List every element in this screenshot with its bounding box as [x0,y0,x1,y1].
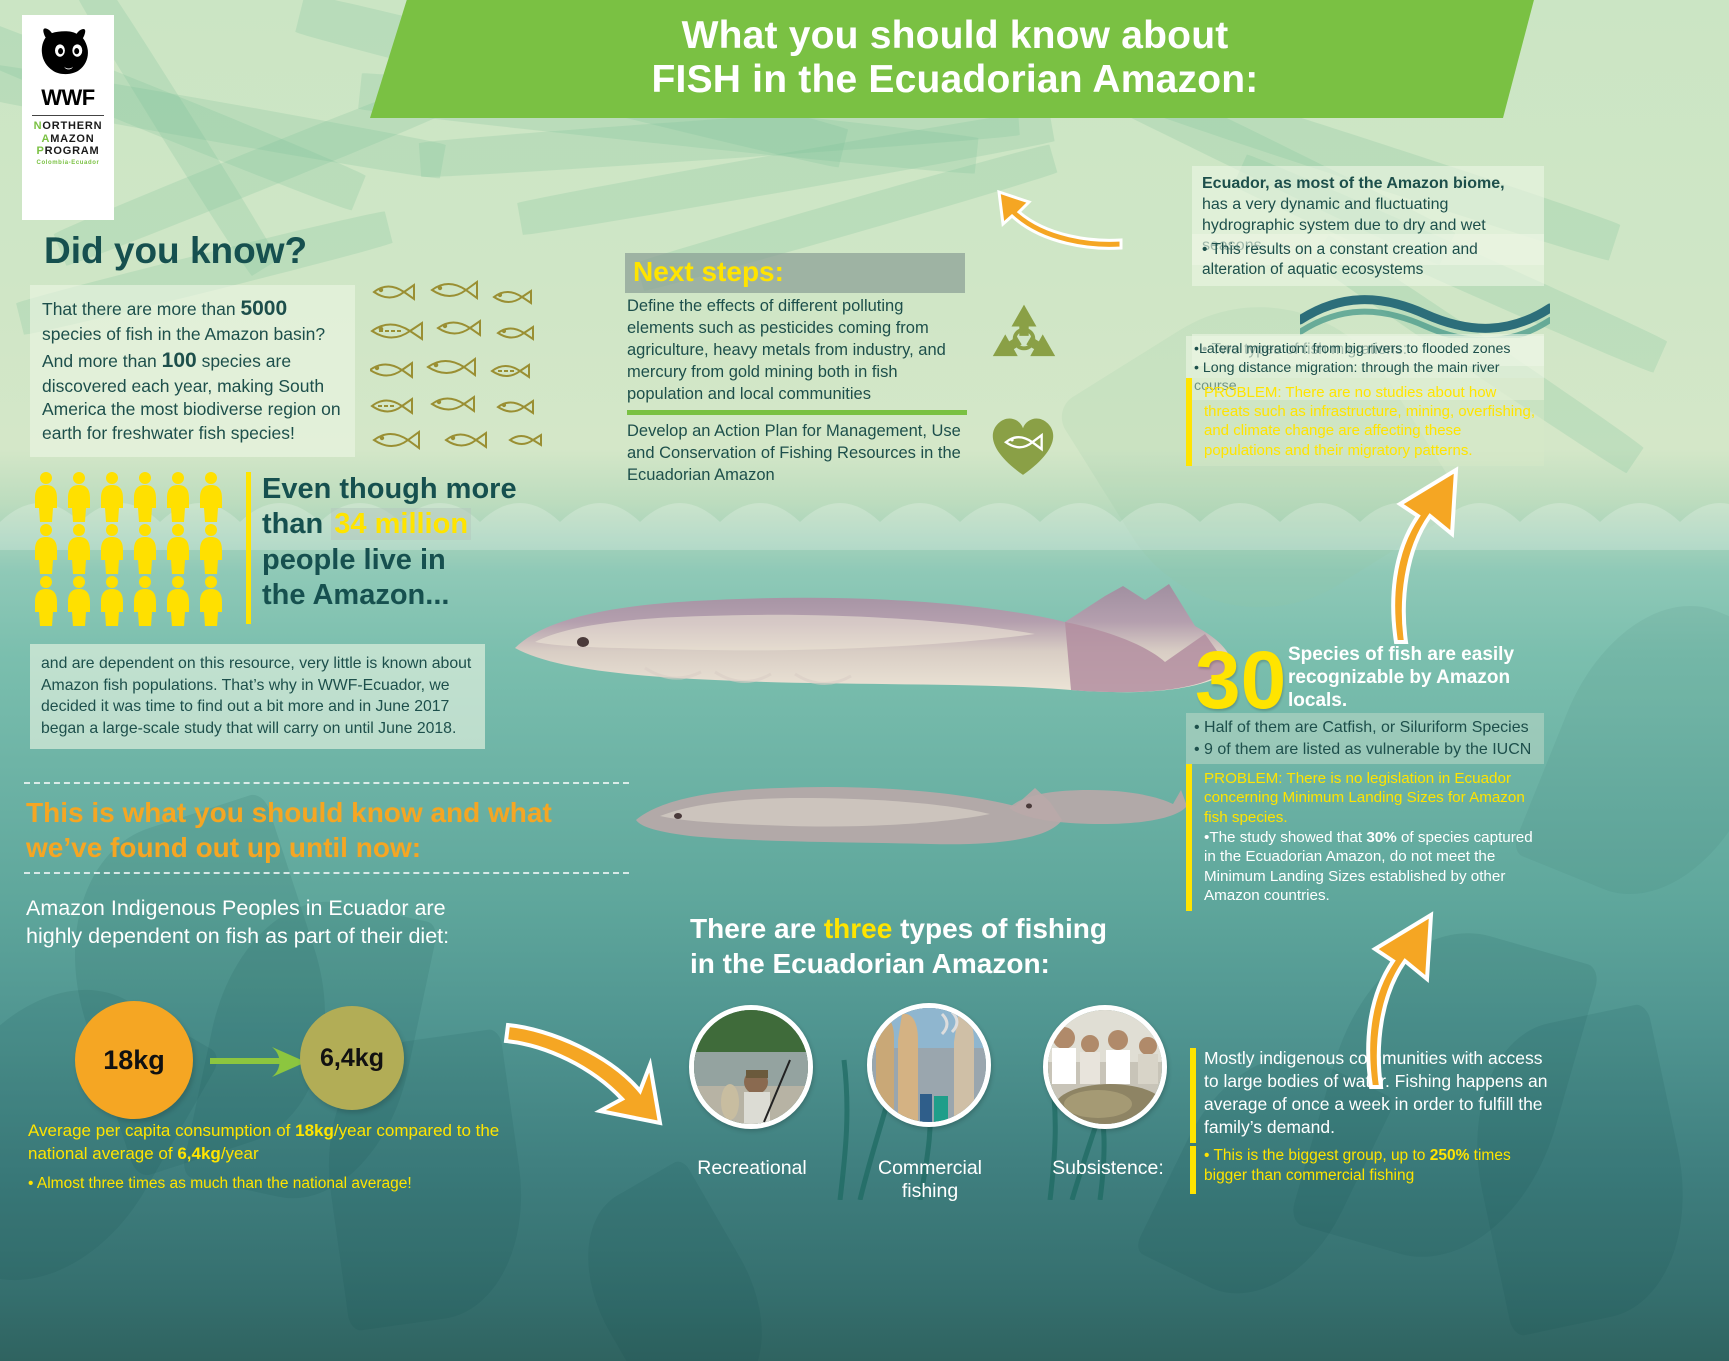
people-stat-line2: than 34 million [262,507,562,542]
people-stat-highlight: 34 million [331,508,471,540]
dashed-divider-bottom [24,872,629,874]
fishing-type-label-commercial: Commercial fishing [855,1157,1005,1203]
kg-cap-post: /year [221,1144,259,1163]
arrow-up-left-icon [995,178,1125,250]
fishing-types-heading: There are three types of fishing in the … [690,912,1190,981]
minimum-landing-study-callout: •The study showed that 30% of species ca… [1186,824,1544,911]
ecuador-problem-callout: PROBLEM: There are no studies about how … [1186,378,1544,466]
logo-divider [32,115,104,116]
page-title-line1: What you should know about [430,14,1480,58]
infographic-poster: What you should know about FISH in the E… [0,0,1729,1361]
dyk-text-pre: That there are more than [42,299,240,319]
people-stat-text: Even though more than 34 million people … [262,472,562,614]
fishing-heading-pre: There are [690,913,824,944]
comparison-arrow-icon [210,1045,310,1079]
people-accent-bar [246,472,251,624]
dashed-divider-top [24,782,629,784]
next-steps-heading: Next steps: [633,256,784,288]
photo-large-catfish [505,530,1245,750]
nap-line-3: PROGRAM [36,145,99,158]
panda-icon [37,22,99,84]
kg-cap-pre: Average per capita consumption of [28,1121,295,1140]
thirty-species-number: 30 [1195,640,1286,722]
minimum-landing-problem-callout: PROBLEM: There is no legislation in Ecua… [1186,764,1544,831]
fishing-heading-post: types of fishing [892,913,1107,944]
next-steps-divider [627,410,967,415]
next-steps-item-2: Develop an Action Plan for Management, U… [627,421,972,487]
subs-note-stat: 250% [1430,1147,1470,1164]
consumption-note: • Almost three times as much than the na… [28,1174,548,1194]
study-stat-30pct: 30% [1366,829,1396,846]
wwf-wordmark: WWF [41,85,94,111]
subsistence-accent-bar [1190,1048,1196,1143]
heart-fish-icon [983,408,1063,478]
photo-recreational-fishing [689,1005,813,1129]
kg-cap-stat1: 18kg [295,1121,334,1140]
migration-type-1: •Lateral migration: from big rivers to f… [1194,340,1536,359]
did-you-know-body: That there are more than 5000 species of… [30,285,355,457]
recycle-icon [985,300,1063,378]
consumption-circle-amazon: 18kg [75,1001,193,1119]
fishing-heading-line2: in the Ecuadorian Amazon: [690,947,1190,982]
photo-commercial-fishing [867,1003,991,1127]
ecuador-bullet-1: • This results on a constant creation an… [1192,234,1544,286]
dyk-stat-5000: 5000 [240,297,287,320]
did-you-know-title: Did you know? [44,230,307,272]
thirty-species-bullets: • Half of them are Catfish, or Silurifor… [1186,713,1544,764]
people-stat-than: than [262,508,331,540]
subsistence-note: • This is the biggest group, up to 250% … [1204,1146,1549,1186]
subsistence-note-accent-bar [1190,1146,1196,1194]
people-stat-line3: people live in [262,543,562,578]
photo-subsistence-fishing [1043,1005,1167,1129]
consumption-caption: Average per capita consumption of 18kg/y… [28,1120,548,1165]
wwf-logo-block: WWF NORTHERN AMAZON PROGRAM Colombia-Ecu… [22,15,114,220]
thirty-bullet-2: • 9 of them are listed as vulnerable by … [1194,739,1536,761]
photo-medium-catfish [630,750,1070,880]
migration-wave-icon [1300,288,1550,338]
thirty-bullet-1: • Half of them are Catfish, or Silurifor… [1194,717,1536,739]
found-out-line1: This is what you should know and what [26,795,666,830]
fishing-heading-three: three [824,913,892,944]
next-steps-item-1: Define the effects of different pollutin… [627,296,972,406]
nap-subtitle: Colombia-Ecuador [37,160,100,166]
subs-note-pre: • This is the biggest group, up to [1204,1147,1430,1164]
page-title: What you should know about FISH in the E… [430,14,1480,103]
fishing-heading-line1: There are three types of fishing [690,912,1190,947]
people-stat-line1: Even though more [262,472,562,507]
arrow-down-right-icon [500,1015,665,1130]
fish-school-icon [370,278,585,463]
next-steps-heading-bar: Next steps: [625,253,965,293]
photo-small-catfish [1005,770,1190,840]
nap-line-2: AMAZON [41,133,94,146]
nap-line-1: NORTHERN [34,120,103,133]
kg-cap-stat2: 6,4kg [177,1144,220,1163]
thirty-species-label: Species of fish are easily recognizable … [1288,644,1538,712]
found-out-line2: we’ve found out up until now: [26,830,666,865]
consumption-circle-national: 6,4kg [300,1006,404,1110]
study-pre: •The study showed that [1204,829,1366,846]
arrow-up-right-lower-icon [1345,905,1460,1090]
ecuador-intro-bold: Ecuador, as most of the Amazon biome, [1202,175,1505,192]
people-icon-grid [32,470,237,630]
dyk-stat-100: 100 [162,349,197,372]
dependent-body-text: and are dependent on this resource, very… [30,644,485,749]
fishing-type-label-recreational: Recreational [672,1157,832,1180]
people-stat-line4: the Amazon... [262,578,562,613]
page-title-line2: FISH in the Ecuadorian Amazon: [430,58,1480,102]
arrow-up-right-upper-icon [1370,460,1485,645]
fishing-type-label-subsistence: Subsistence: [1028,1157,1188,1180]
indigenous-diet-intro: Amazon Indigenous Peoples in Ecuador are… [26,895,496,950]
found-out-headline: This is what you should know and what we… [26,795,666,865]
